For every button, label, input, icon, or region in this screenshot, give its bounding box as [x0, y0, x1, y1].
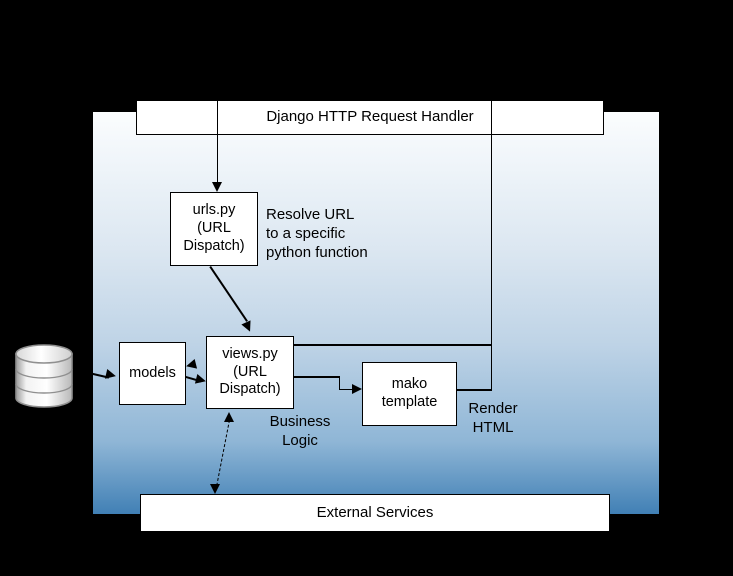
node-models[interactable]: models [119, 342, 186, 405]
node-external-services[interactable]: External Services [140, 494, 610, 532]
annotation-render-html: Render HTML [464, 399, 522, 437]
arrowhead-views-to-mako [352, 384, 362, 394]
node-mako-template[interactable]: mako template [362, 362, 457, 426]
diagram-canvas: Django HTTP Request Handler urls.py (URL… [0, 0, 733, 576]
node-label: Django HTTP Request Handler [262, 108, 477, 126]
arrowhead-header-to-urls [212, 182, 222, 192]
connector-header-right-spine [491, 134, 493, 390]
header-box-divider-left [217, 100, 218, 135]
node-label: External Services [313, 504, 438, 522]
node-label: mako template [378, 376, 442, 411]
connector-views-to-right-spine [294, 344, 492, 346]
connector-views-to-mako-seg2 [339, 376, 341, 389]
connector-mako-to-right-spine [457, 389, 492, 391]
annotation-resolve-url: Resolve URL to a specific python functio… [266, 205, 368, 263]
arrowhead-external-to-views [224, 412, 234, 422]
database-cylinder-icon [14, 344, 74, 408]
node-label: views.py (URL Dispatch) [215, 346, 284, 399]
node-label: urls.py (URL Dispatch) [179, 202, 248, 255]
node-views-py[interactable]: views.py (URL Dispatch) [206, 336, 294, 409]
header-box-divider-right [491, 100, 492, 135]
gradient-panel [93, 112, 659, 514]
node-django-http-request-handler[interactable]: Django HTTP Request Handler [136, 100, 604, 135]
connector-views-to-mako-seg1 [294, 376, 340, 378]
annotation-business-logic: Business Logic [267, 412, 333, 450]
node-label: models [125, 365, 180, 383]
node-urls-py[interactable]: urls.py (URL Dispatch) [170, 192, 258, 266]
arrowhead-views-to-external [210, 484, 220, 494]
